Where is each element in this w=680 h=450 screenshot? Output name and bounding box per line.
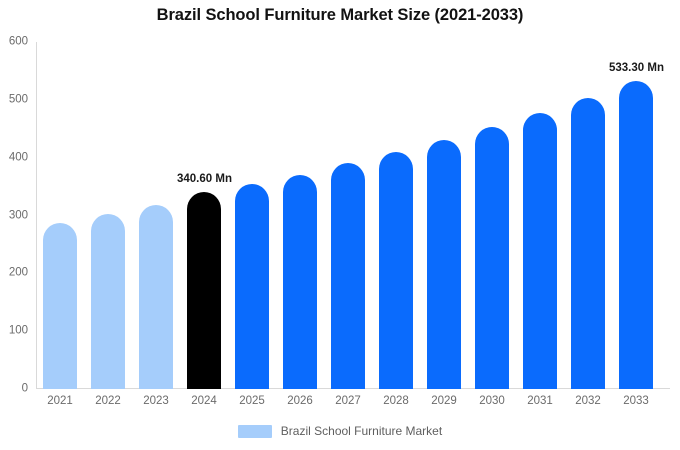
bar-2025[interactable]	[235, 184, 269, 389]
x-tick-label-2024: 2024	[187, 394, 221, 409]
bar-chart: Brazil School Furniture Market Size (202…	[0, 0, 680, 450]
y-tick-label: 0	[0, 383, 28, 395]
x-tick-label-2025: 2025	[235, 394, 269, 409]
legend-swatch-icon	[238, 425, 272, 438]
chart-legend: Brazil School Furniture Market	[0, 424, 680, 438]
bar-2029[interactable]	[427, 140, 461, 389]
x-tick-label-2033: 2033	[619, 394, 653, 409]
bar-2031[interactable]	[523, 113, 557, 389]
legend-item[interactable]: Brazil School Furniture Market	[238, 424, 442, 438]
bar-2027[interactable]	[331, 163, 365, 389]
x-tick-label-2022: 2022	[91, 394, 125, 409]
y-tick-label: 100	[0, 325, 28, 337]
y-tick-label: 500	[0, 94, 28, 106]
legend-item-label: Brazil School Furniture Market	[281, 424, 442, 438]
bar-2026[interactable]	[283, 175, 317, 389]
x-tick-label-2027: 2027	[331, 394, 365, 409]
chart-title: Brazil School Furniture Market Size (202…	[0, 6, 680, 25]
x-tick-label-2029: 2029	[427, 394, 461, 409]
x-tick-label-2026: 2026	[283, 394, 317, 409]
bar-2032[interactable]	[571, 98, 605, 389]
bar-2022[interactable]	[91, 214, 125, 389]
bar-2030[interactable]	[475, 127, 509, 389]
y-tick-label: 400	[0, 152, 28, 164]
bar-2023[interactable]	[139, 205, 173, 389]
bar-value-label-2033: 533.30 Mn	[609, 63, 664, 75]
x-axis-tick-labels: 2021202220232024202520262027202820292030…	[36, 394, 670, 414]
x-tick-label-2028: 2028	[379, 394, 413, 409]
x-tick-label-2032: 2032	[571, 394, 605, 409]
bar-2033[interactable]	[619, 81, 653, 389]
bar-series: 340.60 Mn533.30 Mn	[36, 42, 670, 389]
x-tick-label-2023: 2023	[139, 394, 173, 409]
bar-value-label-2024: 340.60 Mn	[177, 174, 232, 186]
y-tick-label: 200	[0, 268, 28, 280]
x-tick-label-2031: 2031	[523, 394, 557, 409]
x-tick-label-2021: 2021	[43, 394, 77, 409]
bar-2028[interactable]	[379, 152, 413, 389]
y-tick-label: 300	[0, 210, 28, 222]
y-tick-label: 600	[0, 36, 28, 48]
plot-area: 0100200300400500600 340.60 Mn533.30 Mn	[36, 42, 670, 389]
x-tick-label-2030: 2030	[475, 394, 509, 409]
bar-2021[interactable]	[43, 223, 77, 389]
bar-2024[interactable]	[187, 192, 221, 389]
